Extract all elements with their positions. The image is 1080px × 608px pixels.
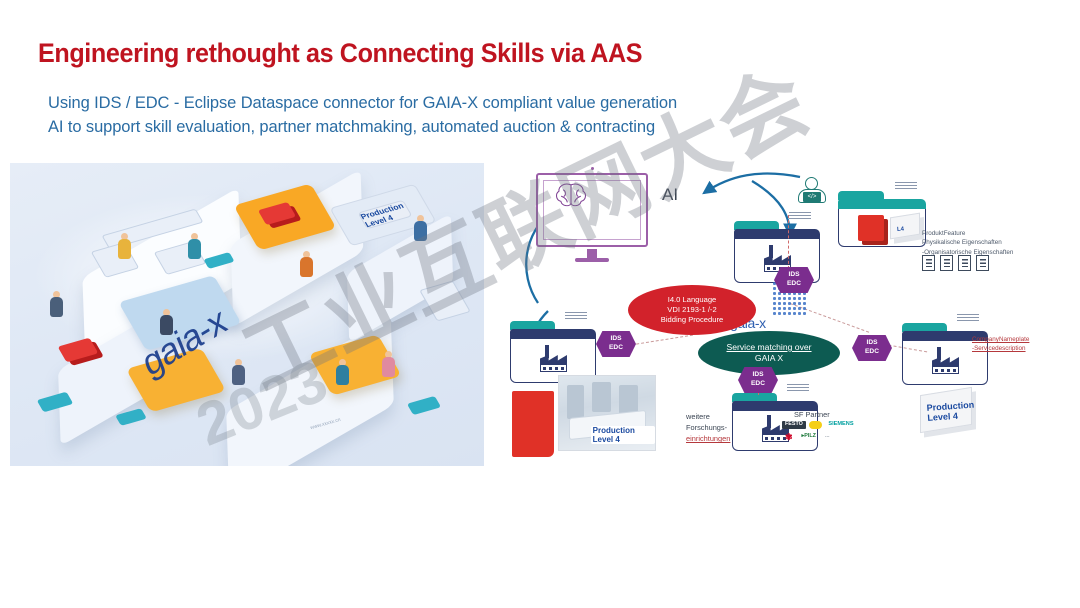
logo-festo: FESTO <box>782 421 806 429</box>
left-illustration: Production Level 4 <box>10 163 484 466</box>
logo-siemens: SIEMENS <box>825 421 856 429</box>
photo-brand-label: Production Level 4 <box>591 426 655 444</box>
level4-brick-label: Production Level 4 <box>926 400 975 423</box>
company-nameplate-label: CompanyNameplate -Servicedescription <box>972 335 1080 354</box>
ids-edc-badge-top: IDS EDC <box>774 267 814 293</box>
connector-vertical-top <box>788 215 789 269</box>
logo-more: ... <box>822 432 833 443</box>
red-product-shape-1 <box>858 215 884 241</box>
partner-logos: FESTO SIEMENS ✾ ▸PILZ ... <box>782 421 860 443</box>
subtitle-line-1: Using IDS / EDC - Eclipse Dataspace conn… <box>48 92 677 116</box>
ids-edc-badge-left: IDS EDC <box>596 331 636 357</box>
subtitle-line-2: AI to support skill evaluation, partner … <box>48 116 677 140</box>
logo-pilz: ▸PILZ <box>799 432 819 443</box>
ids-edc-badge-right: IDS EDC <box>852 335 892 361</box>
iso-small-tile-3 <box>407 396 441 415</box>
document-icon-4 <box>976 255 989 271</box>
page-title: Engineering rethought as Connecting Skil… <box>38 38 642 69</box>
production-line-photo: Production Level 4 <box>558 375 656 451</box>
research-institutions-label: weitere Forschungs- einrichtungen <box>686 411 766 444</box>
product-feature-label: ProduktFeature Physikalische Eigenschaft… <box>922 229 1080 257</box>
ai-label: AI <box>662 185 678 205</box>
logo-huawei: ✾ <box>782 432 796 443</box>
i40-language-ellipse: I4.0 Language VDI 2193-1 /-2 Bidding Pro… <box>628 285 756 335</box>
logo-oval <box>809 421 823 429</box>
document-icon-2 <box>940 255 953 271</box>
sf-partner-label: SF Partner <box>794 409 830 420</box>
laptop-code-icon: </> <box>803 192 821 202</box>
document-icon-3 <box>958 255 971 271</box>
slide-root: Engineering rethought as Connecting Skil… <box>0 0 1080 608</box>
factory-icon-left <box>540 345 567 372</box>
ai-monitor <box>536 173 648 247</box>
architecture-diagram: AI </> L4 ProduktFeature Physikalische E… <box>490 163 1080 483</box>
red-product-shape-2 <box>512 391 554 457</box>
ids-edc-badge-bottom: IDS EDC <box>738 367 778 393</box>
page-subtitle: Using IDS / EDC - Eclipse Dataspace conn… <box>48 92 677 140</box>
developer-icon: </> <box>798 177 826 205</box>
brain-icon <box>552 180 590 210</box>
factory-icon-right <box>932 347 959 374</box>
document-icon-1 <box>922 255 935 271</box>
